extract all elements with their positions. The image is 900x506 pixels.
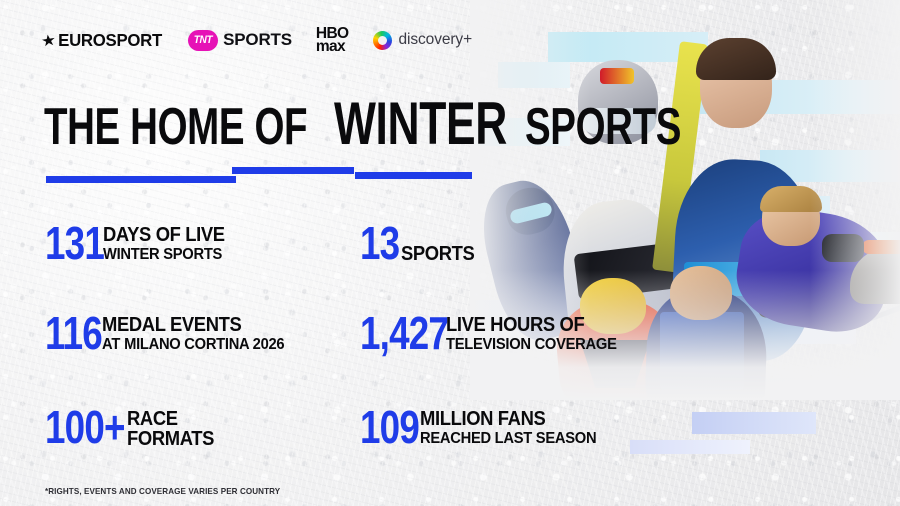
stat-medal-events: 116 MEDAL EVENTS AT MILANO CORTINA 2026 <box>45 312 300 354</box>
infographic-poster: EUROSPORT TNT SPORTS HBO max discovery+ … <box>0 0 900 506</box>
stat-number: 100+ <box>45 406 125 448</box>
stat-label-line1: RACE <box>127 409 214 429</box>
stat-live-hours: 1,427 LIVE HOURS OF TELEVISION COVERAGE <box>360 312 632 354</box>
stat-label-line2: WINTER SPORTS <box>103 246 225 263</box>
stat-label-line1: SPORTS <box>401 244 474 264</box>
stat-label-line1: DAYS OF LIVE <box>103 225 225 245</box>
footnote-disclaimer: *RIGHTS, EVENTS AND COVERAGE VARIES PER … <box>45 486 280 496</box>
stat-number: 13 <box>360 222 399 264</box>
stat-label-line2: REACHED LAST SEASON <box>420 430 596 447</box>
stat-days-of-live: 131 DAYS OF LIVE WINTER SPORTS <box>45 222 235 264</box>
stat-number: 109 <box>360 406 419 448</box>
stat-million-fans: 109 MILLION FANS REACHED LAST SEASON <box>360 406 611 448</box>
stat-number: 1,427 <box>360 312 448 354</box>
stat-label-line1: MILLION FANS <box>420 409 596 429</box>
stat-number: 131 <box>45 222 104 264</box>
stat-label-line1: MEDAL EVENTS <box>102 315 284 335</box>
stat-label-line2: AT MILANO CORTINA 2026 <box>102 336 284 353</box>
statistics-grid: 131 DAYS OF LIVE WINTER SPORTS 116 MEDAL… <box>0 0 900 506</box>
stat-label: SPORTS <box>401 244 481 264</box>
stat-label: LIVE HOURS OF TELEVISION COVERAGE <box>446 315 631 354</box>
stat-label-line2-prefix: AT <box>102 336 124 353</box>
stat-number: 116 <box>45 312 102 354</box>
stat-race-formats: 100+ RACE FORMATS <box>45 406 221 450</box>
stat-label-line2: TELEVISION COVERAGE <box>446 336 617 353</box>
stat-label-line2-main: MILANO CORTINA 2026 <box>124 336 284 353</box>
stat-label: MEDAL EVENTS AT MILANO CORTINA 2026 <box>102 315 300 354</box>
stat-label: MILLION FANS REACHED LAST SEASON <box>420 409 612 448</box>
stat-label: RACE FORMATS <box>127 409 222 450</box>
stat-label: DAYS OF LIVE WINTER SPORTS <box>103 225 235 264</box>
stat-sports: 13 SPORTS <box>360 222 481 264</box>
stat-label-line2: FORMATS <box>127 429 214 449</box>
stat-label-line1: LIVE HOURS OF <box>446 315 617 335</box>
